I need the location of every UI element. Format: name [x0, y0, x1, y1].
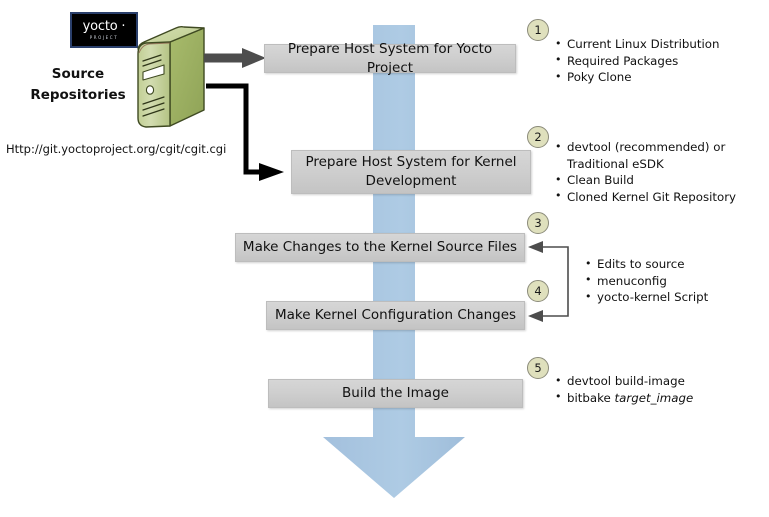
list-item: Edits to source — [585, 256, 765, 273]
step-badge-2: 2 — [527, 126, 549, 148]
process-box-prepare-host-kernel[interactable]: Prepare Host System for Kernel Developme… — [291, 150, 531, 194]
bitbake-target-variable: target_image — [615, 391, 694, 405]
box-2-line2: Development — [366, 173, 457, 189]
list-item: menuconfig — [585, 273, 765, 290]
list-item: yocto-kernel Script — [585, 289, 765, 306]
process-box-prepare-host-yocto[interactable]: Prepare Host System for Yocto Project — [264, 44, 516, 73]
box-2-line1: Prepare Host System for Kernel — [305, 154, 516, 170]
step-badge-4: 4 — [527, 280, 549, 302]
step-2-bullet-list: devtool (recommended) or Traditional eSD… — [555, 139, 767, 205]
box-2-label: Prepare Host System for Kernel Developme… — [305, 153, 516, 191]
process-box-make-kernel-config-changes[interactable]: Make Kernel Configuration Changes — [266, 301, 525, 330]
box-3-label: Make Changes to the Kernel Source Files — [243, 238, 517, 257]
step-badge-5: 5 — [527, 357, 549, 379]
diagram-canvas: yocto · PROJECT Source Repositories Http… — [0, 0, 769, 517]
step-1-bullet-list: Current Linux Distribution Required Pack… — [555, 36, 765, 86]
step-5-bullet-list: devtool build-image bitbake target_image — [555, 373, 765, 406]
step-badge-1: 1 — [527, 19, 549, 41]
box-4-label: Make Kernel Configuration Changes — [275, 306, 516, 325]
list-item: devtool build-image — [555, 373, 765, 390]
list-item: Current Linux Distribution — [555, 36, 765, 53]
box-1-label: Prepare Host System for Yocto Project — [265, 40, 515, 78]
steps-3-4-shared-bullet-list: Edits to source menuconfig yocto-kernel … — [585, 256, 765, 306]
bitbake-command-prefix: bitbake — [567, 391, 615, 405]
process-box-make-kernel-source-changes[interactable]: Make Changes to the Kernel Source Files — [235, 233, 525, 262]
list-item: Poky Clone — [555, 69, 765, 86]
list-item: Required Packages — [555, 53, 765, 70]
list-item: Clean Build — [555, 172, 767, 189]
list-item: bitbake target_image — [555, 390, 765, 407]
step-badge-3: 3 — [527, 212, 549, 234]
list-item: devtool (recommended) or Traditional eSD… — [555, 139, 767, 172]
list-item: Cloned Kernel Git Repository — [555, 189, 767, 206]
box-5-label: Build the Image — [342, 384, 449, 403]
process-box-build-the-image[interactable]: Build the Image — [268, 379, 523, 408]
